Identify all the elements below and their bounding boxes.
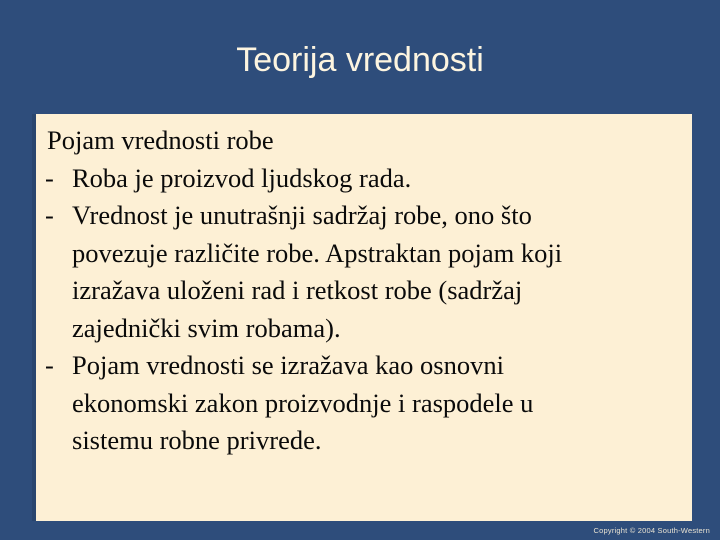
content-panel: Pojam vrednosti robe - Roba je proizvod … <box>36 114 692 521</box>
copyright-notice: Copyright © 2004 South-Western <box>594 526 710 536</box>
dash-bullet-icon: - <box>45 347 63 385</box>
list-item: - Roba je proizvod ljudskog rada. <box>36 160 692 198</box>
list-item-line: Vrednost je unutrašnji sadržaj robe, ono… <box>72 200 532 230</box>
list-item-line: ekonomski zakon proizvodnje i raspodele … <box>36 385 692 423</box>
body-text-block: Pojam vrednosti robe - Roba je proizvod … <box>36 122 692 460</box>
list-item-line: izražava uloženi rad i retkost robe (sad… <box>36 272 692 310</box>
list-item: - Vrednost je unutrašnji sadržaj robe, o… <box>36 197 692 235</box>
list-item-line: povezuje različite robe. Apstraktan poja… <box>36 235 692 273</box>
list-item: - Pojam vrednosti se izražava kao osnovn… <box>36 347 692 385</box>
dash-bullet-icon: - <box>45 197 63 235</box>
list-item-line: Pojam vrednosti se izražava kao osnovni <box>72 350 504 380</box>
dash-bullet-icon: - <box>45 160 63 198</box>
lead-line: Pojam vrednosti robe <box>36 122 692 160</box>
list-item-line: zajednički svim robama). <box>36 310 692 348</box>
list-item-line: Roba je proizvod ljudskog rada. <box>72 163 411 193</box>
slide-title: Teorija vrednosti <box>0 40 720 80</box>
slide-canvas: Teorija vrednosti Pojam vrednosti robe -… <box>0 0 720 540</box>
list-item-line: sistemu robne privrede. <box>36 422 692 460</box>
